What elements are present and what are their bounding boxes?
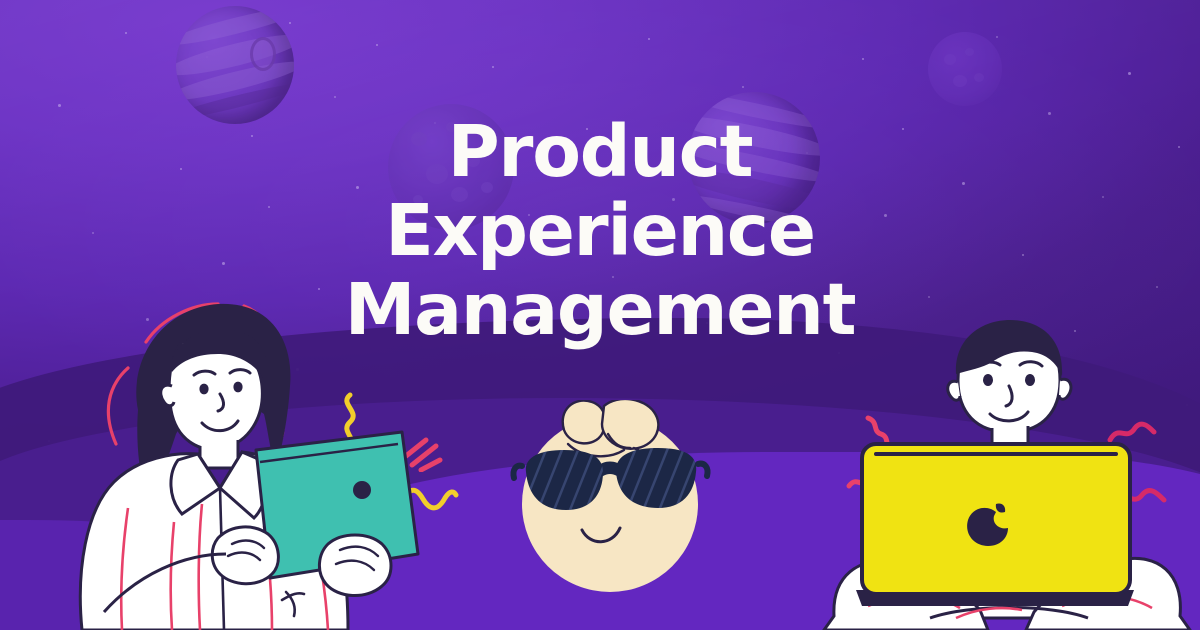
- woman-with-tablet-illustration: [42, 282, 422, 630]
- cool-face-emoji-illustration: [508, 400, 712, 600]
- man-with-laptop-illustration: [810, 318, 1200, 630]
- banner-canvas: Product Experience Management: [0, 0, 1200, 630]
